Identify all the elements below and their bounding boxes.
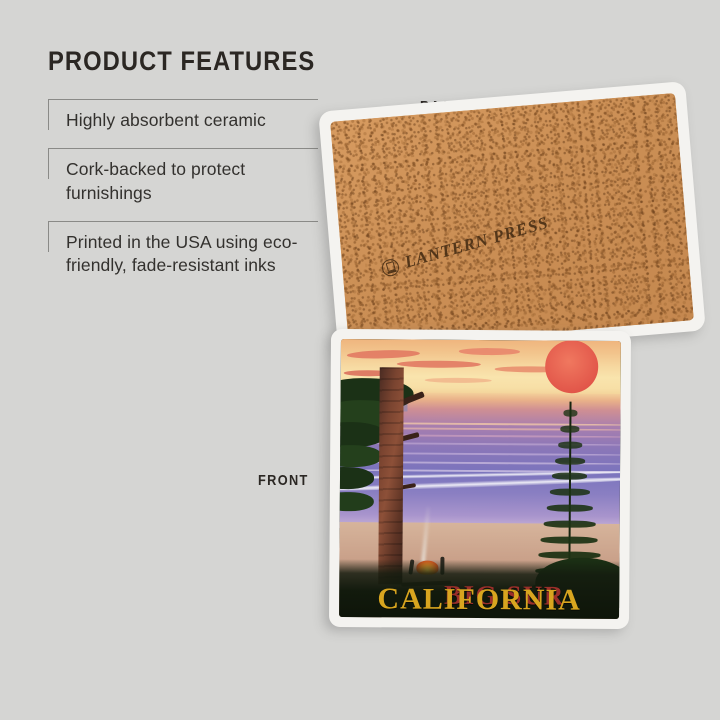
feature-item-absorbent: Highly absorbent ceramic	[48, 99, 318, 146]
conifer-branch	[555, 457, 585, 464]
conifer-branch	[552, 473, 587, 480]
feature-item-printed-usa: Printed in the USA using eco-friendly, f…	[48, 221, 318, 292]
product-feature-composite: PRODUCT FEATURES Highly absorbent cerami…	[0, 0, 720, 720]
poster-title-band: BIG SUR CALIFORNIA	[339, 559, 619, 619]
conifer-branch	[544, 520, 596, 527]
feature-text: Printed in the USA using eco-friendly, f…	[66, 231, 318, 278]
page-title: PRODUCT FEATURES	[48, 46, 286, 77]
conifer-branch	[564, 410, 577, 417]
feature-text: Highly absorbent ceramic	[66, 109, 318, 132]
conifer-branch	[558, 441, 582, 448]
poster-title-secondary: CALIFORNIA	[339, 582, 619, 618]
lantern-circle-icon	[380, 257, 401, 278]
coaster-front-surface: BIG SUR CALIFORNIA	[339, 339, 621, 619]
product-features-panel: PRODUCT FEATURES Highly absorbent cerami…	[48, 46, 318, 293]
conifer-branch	[541, 536, 598, 543]
conifer-branch	[561, 426, 580, 433]
coaster-front: BIG SUR CALIFORNIA	[329, 329, 631, 629]
poster-artwork: BIG SUR CALIFORNIA	[339, 339, 621, 619]
conifer-branch	[549, 489, 590, 496]
coaster-back-surface: LANTERN PRESS	[330, 93, 694, 349]
cloud	[425, 377, 492, 382]
cork-texture	[330, 93, 694, 349]
label-front: FRONT	[258, 472, 309, 489]
conifer-branch	[547, 504, 593, 511]
feature-text: Cork-backed to protect furnishings	[66, 158, 318, 205]
sun	[545, 340, 599, 393]
coaster-back: LANTERN PRESS	[318, 81, 706, 361]
tree-trunk	[378, 367, 403, 584]
feature-item-cork-backed: Cork-backed to protect furnishings	[48, 148, 318, 219]
